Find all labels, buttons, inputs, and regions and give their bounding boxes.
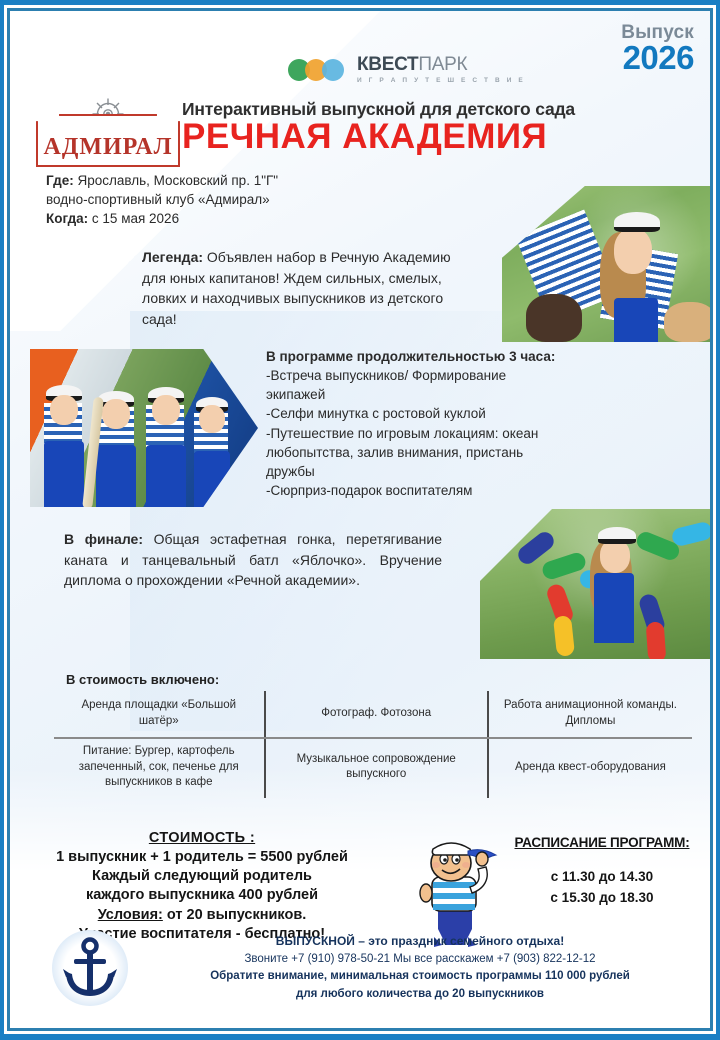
price-line-3: каждого выпускника 400 рублей [22,886,382,905]
poster-frame-inner: Выпуск 2026 КВЕСТПАРК И Г Р А П У Т Е [7,8,713,1031]
edition-year: 2026 [621,42,694,73]
cell-0-2: Работа анимационной команды. Дипломы [488,691,692,737]
poster-canvas: Выпуск 2026 КВЕСТПАРК И Г Р А П У Т Е [10,11,710,1028]
admiral-plate: АДМИРАЛ [36,127,180,167]
poster-frame-outer: Выпуск 2026 КВЕСТПАРК И Г Р А П У Т Е [4,5,716,1034]
final-block: В финале: Общая эстафетная гонка, перетя… [64,529,442,591]
footer-line-1: ВЫПУСКНОЙ – это праздник семейного отдых… [140,932,700,951]
questpark-dots-icon [288,59,348,81]
cell-1-0: Питание: Бургер, картофель запеченный, с… [54,737,265,798]
questpark-logo: КВЕСТПАРК И Г Р А П У Т Е Ш Е С Т В И Е [288,55,525,84]
price-title: СТОИМОСТЬ : [22,829,382,848]
footer-text: ВЫПУСКНОЙ – это праздник семейного отдых… [140,932,700,1004]
edition-badge: Выпуск 2026 [621,23,694,73]
final-label: В финале: [64,531,143,547]
photo-girl-sailor [502,186,710,342]
schedule-times: с 11.30 до 14.30 с 15.30 до 18.30 [488,867,710,908]
program-item-0: -Встреча выпускников/ Формирование экипа… [266,366,566,404]
cell-1-2: Аренда квест-оборудования [488,737,692,798]
legend-label: Легенда: [142,249,203,265]
schedule-slot-1: с 11.30 до 14.30 [488,867,710,887]
program-item-1: -Селфи минутка с ростовой куклой [266,404,566,423]
when-line: Когда: с 15 мая 2026 [46,209,278,228]
price-line-1: 1 выпускник + 1 родитель = 5500 рублей [22,848,382,867]
footer-line-4: для любого количества до 20 выпускников [140,986,700,1004]
poster-root: Выпуск 2026 КВЕСТПАРК И Г Р А П У Т Е [0,0,720,1040]
price-terms: Условия: от 20 выпускников. [22,906,382,925]
program-block: В программе продолжительностью 3 часа: -… [266,347,566,500]
cost-table: Аренда площадки «Большой шатёр» Фотограф… [54,691,692,798]
anchor-badge [52,930,128,1006]
terms-label: Условия: [98,907,163,923]
cell-0-0: Аренда площадки «Большой шатёр» [54,691,265,737]
terms-value: от 20 выпускников. [163,907,306,923]
cell-0-1: Фотограф. Фотозона [265,691,488,737]
schedule-title: РАСПИСАНИЕ ПРОГРАММ: [488,833,710,853]
brand-name-light: ПАРК [418,54,467,75]
anchor-icon [52,930,128,1006]
admiral-logo: АДМИРАЛ [36,97,180,167]
program-title: В программе продолжительностью 3 часа: [266,347,566,366]
admiral-logo-text: АДМИРАЛ [38,127,178,167]
footer: ВЫПУСКНОЙ – это праздник семейного отдых… [10,924,710,1024]
legend-block: Легенда: Объявлен набор в Речную Академи… [142,247,472,329]
table-row: Питание: Бургер, картофель запеченный, с… [54,737,692,798]
table-divider-horizontal [54,737,692,739]
price-line-2: Каждый следующий родитель [22,867,382,886]
brand-tagline: И Г Р А П У Т Е Ш Е С Т В И Е [357,77,525,84]
footer-line-2: Звоните +7 (910) 978-50-21 Мы все расска… [140,951,700,969]
when-value: с 15 мая 2026 [88,211,179,226]
where-line2: водно-спортивный клуб «Адмирал» [46,190,278,209]
brand-name-bold: КВЕСТ [357,54,418,75]
dot-blue-icon [322,59,344,81]
cost-table-heading: В стоимость включено: [66,672,219,687]
footer-line-3: Обратите внимание, минимальная стоимость… [140,968,700,986]
where-label: Где: [46,173,74,188]
photo-team-sailors [30,349,258,507]
table-row: Аренда площадки «Большой шатёр» Фотограф… [54,691,692,737]
where-when-block: Где: Ярославль, Московский пр. 1"Г" водн… [46,171,278,228]
questpark-wordmark: КВЕСТПАРК И Г Р А П У Т Е Ш Е С Т В И Е [357,55,525,84]
cell-1-1: Музыкальное сопровождение выпускного [265,737,488,798]
program-item-2: -Путешествие по игровым локациям: океан … [266,424,566,481]
program-item-3: -Сюрприз-подарок воспитателям [266,481,566,500]
where-value: Ярославль, Московский пр. 1"Г" [74,173,278,188]
poster-title: РЕЧНАЯ АКАДЕМИЯ [182,119,710,156]
when-label: Когда: [46,211,88,226]
schedule-slot-2: с 15.30 до 18.30 [488,888,710,908]
photo-girl-inflatable [480,509,710,659]
schedule-block: РАСПИСАНИЕ ПРОГРАММ: с 11.30 до 14.30 с … [488,833,710,908]
where-line: Где: Ярославль, Московский пр. 1"Г" [46,171,278,190]
